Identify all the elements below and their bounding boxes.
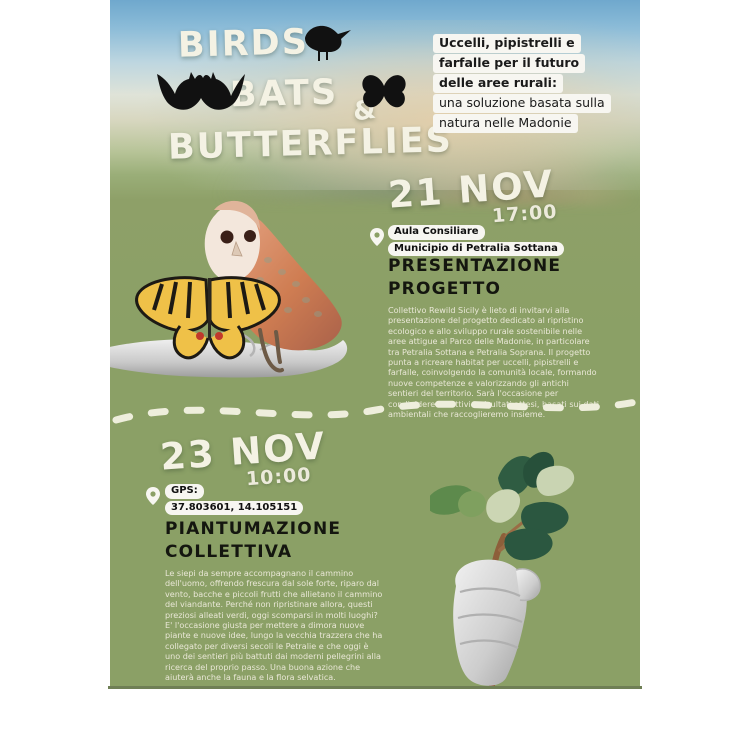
event-2-title-line-2: COLLETTIVA [165, 541, 341, 564]
event-1-title-line-2: PROGETTO [388, 278, 561, 301]
dashed-path-divider [112, 392, 640, 432]
event-1-venue: Aula Consiliare Municipio di Petralia So… [388, 225, 564, 258]
poster-root: BIRDS BATS & BUTTERFLIES Uccelli, pipist… [0, 0, 750, 750]
event-1-venue-line-1: Aula Consiliare [388, 225, 485, 240]
hand-holding-oak-branch-illustration [430, 440, 640, 688]
footer-divider-rule [108, 686, 642, 689]
butterfly-silhouette-icon [360, 72, 408, 116]
right-margin [640, 0, 750, 750]
footer: Progetto supportato da MEDITERRANEAN BIO… [0, 690, 750, 750]
event-1-venue-line-2: Municipio di Petralia Sottana [388, 242, 564, 257]
event-1-title: PRESENTAZIONE PROGETTO [388, 255, 561, 301]
fist-shape [453, 560, 540, 686]
event-2-venue-line-1: GPS: [165, 484, 204, 499]
gps-pin-icon [146, 487, 160, 505]
oak-leaf-6 [504, 528, 552, 560]
event-1-time: 17:00 [491, 201, 558, 228]
oak-leaf-3 [536, 466, 574, 496]
headline-line-3: BUTTERFLIES [168, 120, 454, 167]
event-2-venue-line-2: 37.803601, 14.105151 [165, 501, 303, 516]
acorn [430, 481, 489, 520]
left-margin [0, 0, 110, 750]
fist-body [453, 560, 527, 686]
subtitle-line-5: natura nelle Madonie [433, 114, 578, 133]
event-2-body: Le siepi da sempre accompagnano il cammi… [165, 568, 383, 682]
subtitle-line-3: delle aree rurali: [433, 74, 563, 93]
subtitle-block: Uccelli, pipistrelli e farfalle per il f… [433, 34, 638, 134]
bat-silhouette-icon [155, 68, 247, 116]
subtitle-line-4: una soluzione basata sulla [433, 94, 611, 113]
event-2-venue: GPS: 37.803601, 14.105151 [165, 484, 303, 517]
owl-eye-left [221, 231, 234, 244]
headline-line-1: BIRDS [177, 22, 309, 65]
owl-butterfly-hand-illustration [110, 180, 400, 420]
location-pin-icon [370, 228, 384, 246]
event-1-title-line-1: PRESENTAZIONE [388, 255, 561, 278]
butterfly-body [208, 278, 211, 340]
bird-silhouette-icon [295, 22, 353, 64]
event-2-title: PIANTUMAZIONE COLLETTIVA [165, 518, 341, 564]
event-2-title-line-1: PIANTUMAZIONE [165, 518, 341, 541]
butterfly-eyespot-left [196, 332, 204, 340]
subtitle-line-1: Uccelli, pipistrelli e [433, 34, 581, 53]
subtitle-line-2: farfalle per il futuro [433, 54, 585, 73]
event-2-body-text: Le siepi da sempre accompagnano il cammi… [165, 568, 383, 682]
butterfly-eyespot-right [215, 332, 223, 340]
owl-eye-right [244, 230, 256, 242]
oak-leaf-4 [486, 489, 520, 523]
